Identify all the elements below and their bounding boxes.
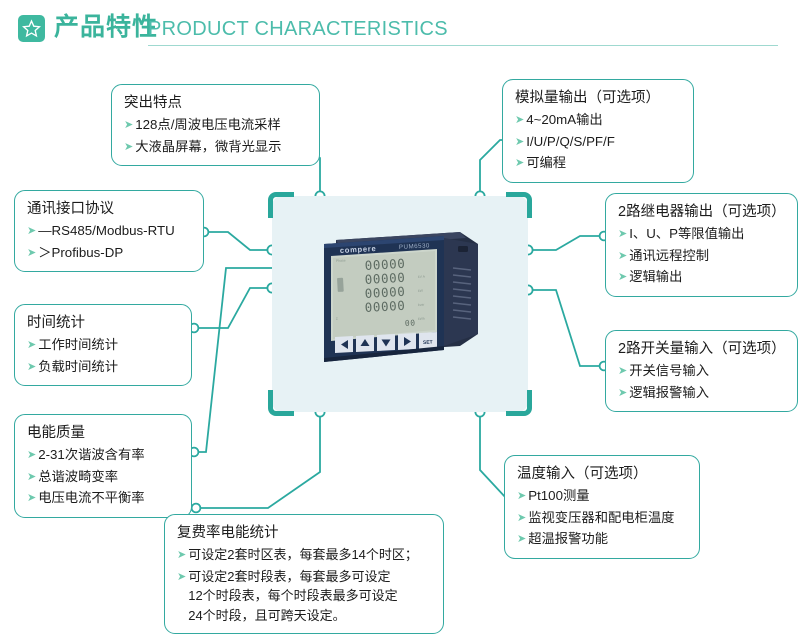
power-meter-device-photo: compere PUM6530 00000 00000 00000 00000 … <box>310 222 484 382</box>
callout-box-analog-output: 模拟量输出（可选项） ➤ 4~20mA输出 ➤ I/U/P/Q/S/PF/F ➤… <box>502 79 694 183</box>
callout-title: 时间统计 <box>27 312 181 334</box>
bullet-arrow-icon: ➤ <box>27 335 36 356</box>
list-item: ➤ ＞Profibus-DP <box>27 243 193 264</box>
callout-title: 温度输入（可选项） <box>517 463 689 485</box>
stage-corner-top-right <box>506 192 532 218</box>
bullet-arrow-icon: ➤ <box>618 267 627 288</box>
connector-node <box>192 504 201 513</box>
list-item-label: 128点/周波电压电流采样 <box>135 115 281 136</box>
list-item-label: 开关信号输入 <box>629 361 709 382</box>
callout-title: 通讯接口协议 <box>27 198 193 220</box>
list-item: ➤ 工作时间统计 <box>27 335 181 356</box>
svg-text:kV A: kV A <box>418 275 426 279</box>
bullet-arrow-icon: ➤ <box>618 383 627 404</box>
device-stage: compere PUM6530 00000 00000 00000 00000 … <box>272 196 528 412</box>
callout-box-communication: 通讯接口协议 ➤ —RS485/Modbus-RTU ➤ ＞Profibus-D… <box>14 190 204 272</box>
list-item-label: 2-31次谐波含有率 <box>38 445 144 466</box>
svg-text:00000: 00000 <box>364 298 405 315</box>
list-item-label: I/U/P/Q/S/PF/F <box>526 132 615 153</box>
list-item-label: —RS485/Modbus-RTU <box>38 221 174 242</box>
list-item: ➤ 通讯远程控制 <box>618 246 787 267</box>
svg-text:00: 00 <box>405 318 416 328</box>
stage-corner-top-left <box>268 192 294 218</box>
callout-box-relay-output: 2路继电器输出（可选项） ➤ I、U、P等限值输出 ➤ 通讯远程控制 ➤ 逻辑输… <box>605 193 798 297</box>
callout-title: 突出特点 <box>124 92 309 114</box>
callout-box-power-quality: 电能质量 ➤ 2-31次谐波含有率 ➤ 总谐波畸变率 ➤ 电压电流不平衡率 <box>14 414 192 518</box>
bullet-arrow-icon: ➤ <box>27 243 36 264</box>
svg-text:kWh: kWh <box>418 317 425 321</box>
bullet-arrow-icon: ➤ <box>124 115 133 136</box>
stage-corner-bottom-right <box>506 390 532 416</box>
bullet-arrow-icon: ➤ <box>27 221 36 242</box>
list-item: ➤ 4~20mA输出 <box>515 110 683 131</box>
list-item-label: 逻辑输出 <box>629 267 682 288</box>
list-item: ➤ 电压电流不平衡率 <box>27 488 181 509</box>
list-item-label: 工作时间统计 <box>38 335 118 356</box>
callout-title: 2路开关量输入（可选项） <box>618 338 787 360</box>
bullet-arrow-icon: ➤ <box>517 508 526 529</box>
callout-bullets: ➤ —RS485/Modbus-RTU ➤ ＞Profibus-DP <box>27 221 193 263</box>
bullet-arrow-icon: ➤ <box>27 445 36 466</box>
svg-text:kvar: kvar <box>418 303 425 307</box>
callout-bullets: ➤ I、U、P等限值输出 ➤ 通讯远程控制 ➤ 逻辑输出 <box>618 224 787 288</box>
svg-text:Σ: Σ <box>336 317 338 321</box>
list-item: ➤ 开关信号输入 <box>618 361 787 382</box>
list-item: ➤ I、U、P等限值输出 <box>618 224 787 245</box>
list-item: ➤ 逻辑输出 <box>618 267 787 288</box>
list-item: ➤ 监视变压器和配电柜温度 <box>517 508 689 529</box>
list-item-label: 可设定2套时区表，每套最多14个时区； <box>188 545 418 565</box>
list-item: ➤ 2-31次谐波含有率 <box>27 445 181 466</box>
callout-bullets: ➤ 128点/周波电压电流采样 ➤ 大液晶屏幕，微背光显示 <box>124 115 309 157</box>
list-item: ➤ 128点/周波电压电流采样 <box>124 115 309 136</box>
bullet-arrow-icon: ➤ <box>27 467 36 488</box>
callout-box-multi-tariff: 复费率电能统计 ➤ 可设定2套时区表，每套最多14个时区； ➤ 可设定2套时段表… <box>164 514 444 634</box>
list-item: ➤ 可设定2套时段表，每套最多可设定 12个时段表，每个时段表最多可设定 24个… <box>177 567 433 626</box>
bullet-arrow-icon: ➤ <box>124 137 133 158</box>
bullet-arrow-icon: ➤ <box>27 488 36 509</box>
list-item-label: 通讯远程控制 <box>629 246 709 267</box>
list-item: ➤ 大液晶屏幕，微背光显示 <box>124 137 309 158</box>
callout-bullets: ➤ 4~20mA输出 ➤ I/U/P/Q/S/PF/F ➤ 可编程 <box>515 110 683 174</box>
bullet-arrow-icon: ➤ <box>515 110 524 131</box>
callout-title: 模拟量输出（可选项） <box>515 87 683 109</box>
list-item-label: 大液晶屏幕，微背光显示 <box>135 137 281 158</box>
callout-bullets: ➤ 开关信号输入 ➤ 逻辑报警输入 <box>618 361 787 403</box>
bullet-arrow-icon: ➤ <box>517 529 526 550</box>
callout-bullets: ➤ 2-31次谐波含有率 ➤ 总谐波畸变率 ➤ 电压电流不平衡率 <box>27 445 181 509</box>
list-item: ➤ 总谐波畸变率 <box>27 467 181 488</box>
callout-box-digital-input: 2路开关量输入（可选项） ➤ 开关信号输入 ➤ 逻辑报警输入 <box>605 330 798 412</box>
list-item-label: 负载时间统计 <box>38 357 118 378</box>
list-item-label: 4~20mA输出 <box>526 110 603 131</box>
list-item: ➤ 负载时间统计 <box>27 357 181 378</box>
bullet-arrow-icon: ➤ <box>515 132 524 153</box>
stage-corner-bottom-left <box>268 390 294 416</box>
list-item: ➤ 超温报警功能 <box>517 529 689 550</box>
list-item: ➤ Pt100测量 <box>517 486 689 507</box>
list-item: ➤ 可编程 <box>515 153 683 174</box>
list-item: ➤ 逻辑报警输入 <box>618 383 787 404</box>
list-item: ➤ I/U/P/Q/S/PF/F <box>515 132 683 153</box>
svg-text:SET: SET <box>423 339 433 346</box>
list-item-label: 总谐波畸变率 <box>38 467 118 488</box>
callout-title: 复费率电能统计 <box>177 522 433 544</box>
callout-box-highlight: 突出特点 ➤ 128点/周波电压电流采样 ➤ 大液晶屏幕，微背光显示 <box>111 84 320 166</box>
bullet-arrow-icon: ➤ <box>618 361 627 382</box>
list-item-label: 超温报警功能 <box>528 529 608 550</box>
list-item: ➤ —RS485/Modbus-RTU <box>27 221 193 242</box>
list-item-label: ＞Profibus-DP <box>38 243 123 264</box>
list-item: ➤ 可设定2套时区表，每套最多14个时区； <box>177 545 433 566</box>
list-item-label: 电压电流不平衡率 <box>38 488 144 509</box>
bullet-arrow-icon: ➤ <box>177 545 186 566</box>
svg-text:Phase: Phase <box>336 258 346 263</box>
bullet-arrow-icon: ➤ <box>618 246 627 267</box>
callout-box-time-statistics: 时间统计 ➤ 工作时间统计 ➤ 负载时间统计 <box>14 304 192 386</box>
bullet-arrow-icon: ➤ <box>618 224 627 245</box>
list-item-label: 逻辑报警输入 <box>629 383 709 404</box>
callout-box-temperature-input: 温度输入（可选项） ➤ Pt100测量 ➤ 监视变压器和配电柜温度 ➤ 超温报警… <box>504 455 700 559</box>
callout-title: 电能质量 <box>27 422 181 444</box>
list-item-label: 可编程 <box>526 153 566 174</box>
list-item-label: Pt100测量 <box>528 486 589 507</box>
callout-bullets: ➤ 可设定2套时区表，每套最多14个时区； ➤ 可设定2套时段表，每套最多可设定… <box>177 545 433 625</box>
bullet-arrow-icon: ➤ <box>177 567 186 588</box>
list-item-label: I、U、P等限值输出 <box>629 224 744 245</box>
callout-title: 2路继电器输出（可选项） <box>618 201 787 223</box>
callout-bullets: ➤ Pt100测量 ➤ 监视变压器和配电柜温度 ➤ 超温报警功能 <box>517 486 689 550</box>
callout-bullets: ➤ 工作时间统计 ➤ 负载时间统计 <box>27 335 181 377</box>
list-item-label: 监视变压器和配电柜温度 <box>528 508 674 529</box>
bullet-arrow-icon: ➤ <box>517 486 526 507</box>
bullet-arrow-icon: ➤ <box>27 357 36 378</box>
bullet-arrow-icon: ➤ <box>515 153 524 174</box>
list-item-label: 可设定2套时段表，每套最多可设定 12个时段表，每个时段表最多可设定 24个时段… <box>188 567 397 626</box>
